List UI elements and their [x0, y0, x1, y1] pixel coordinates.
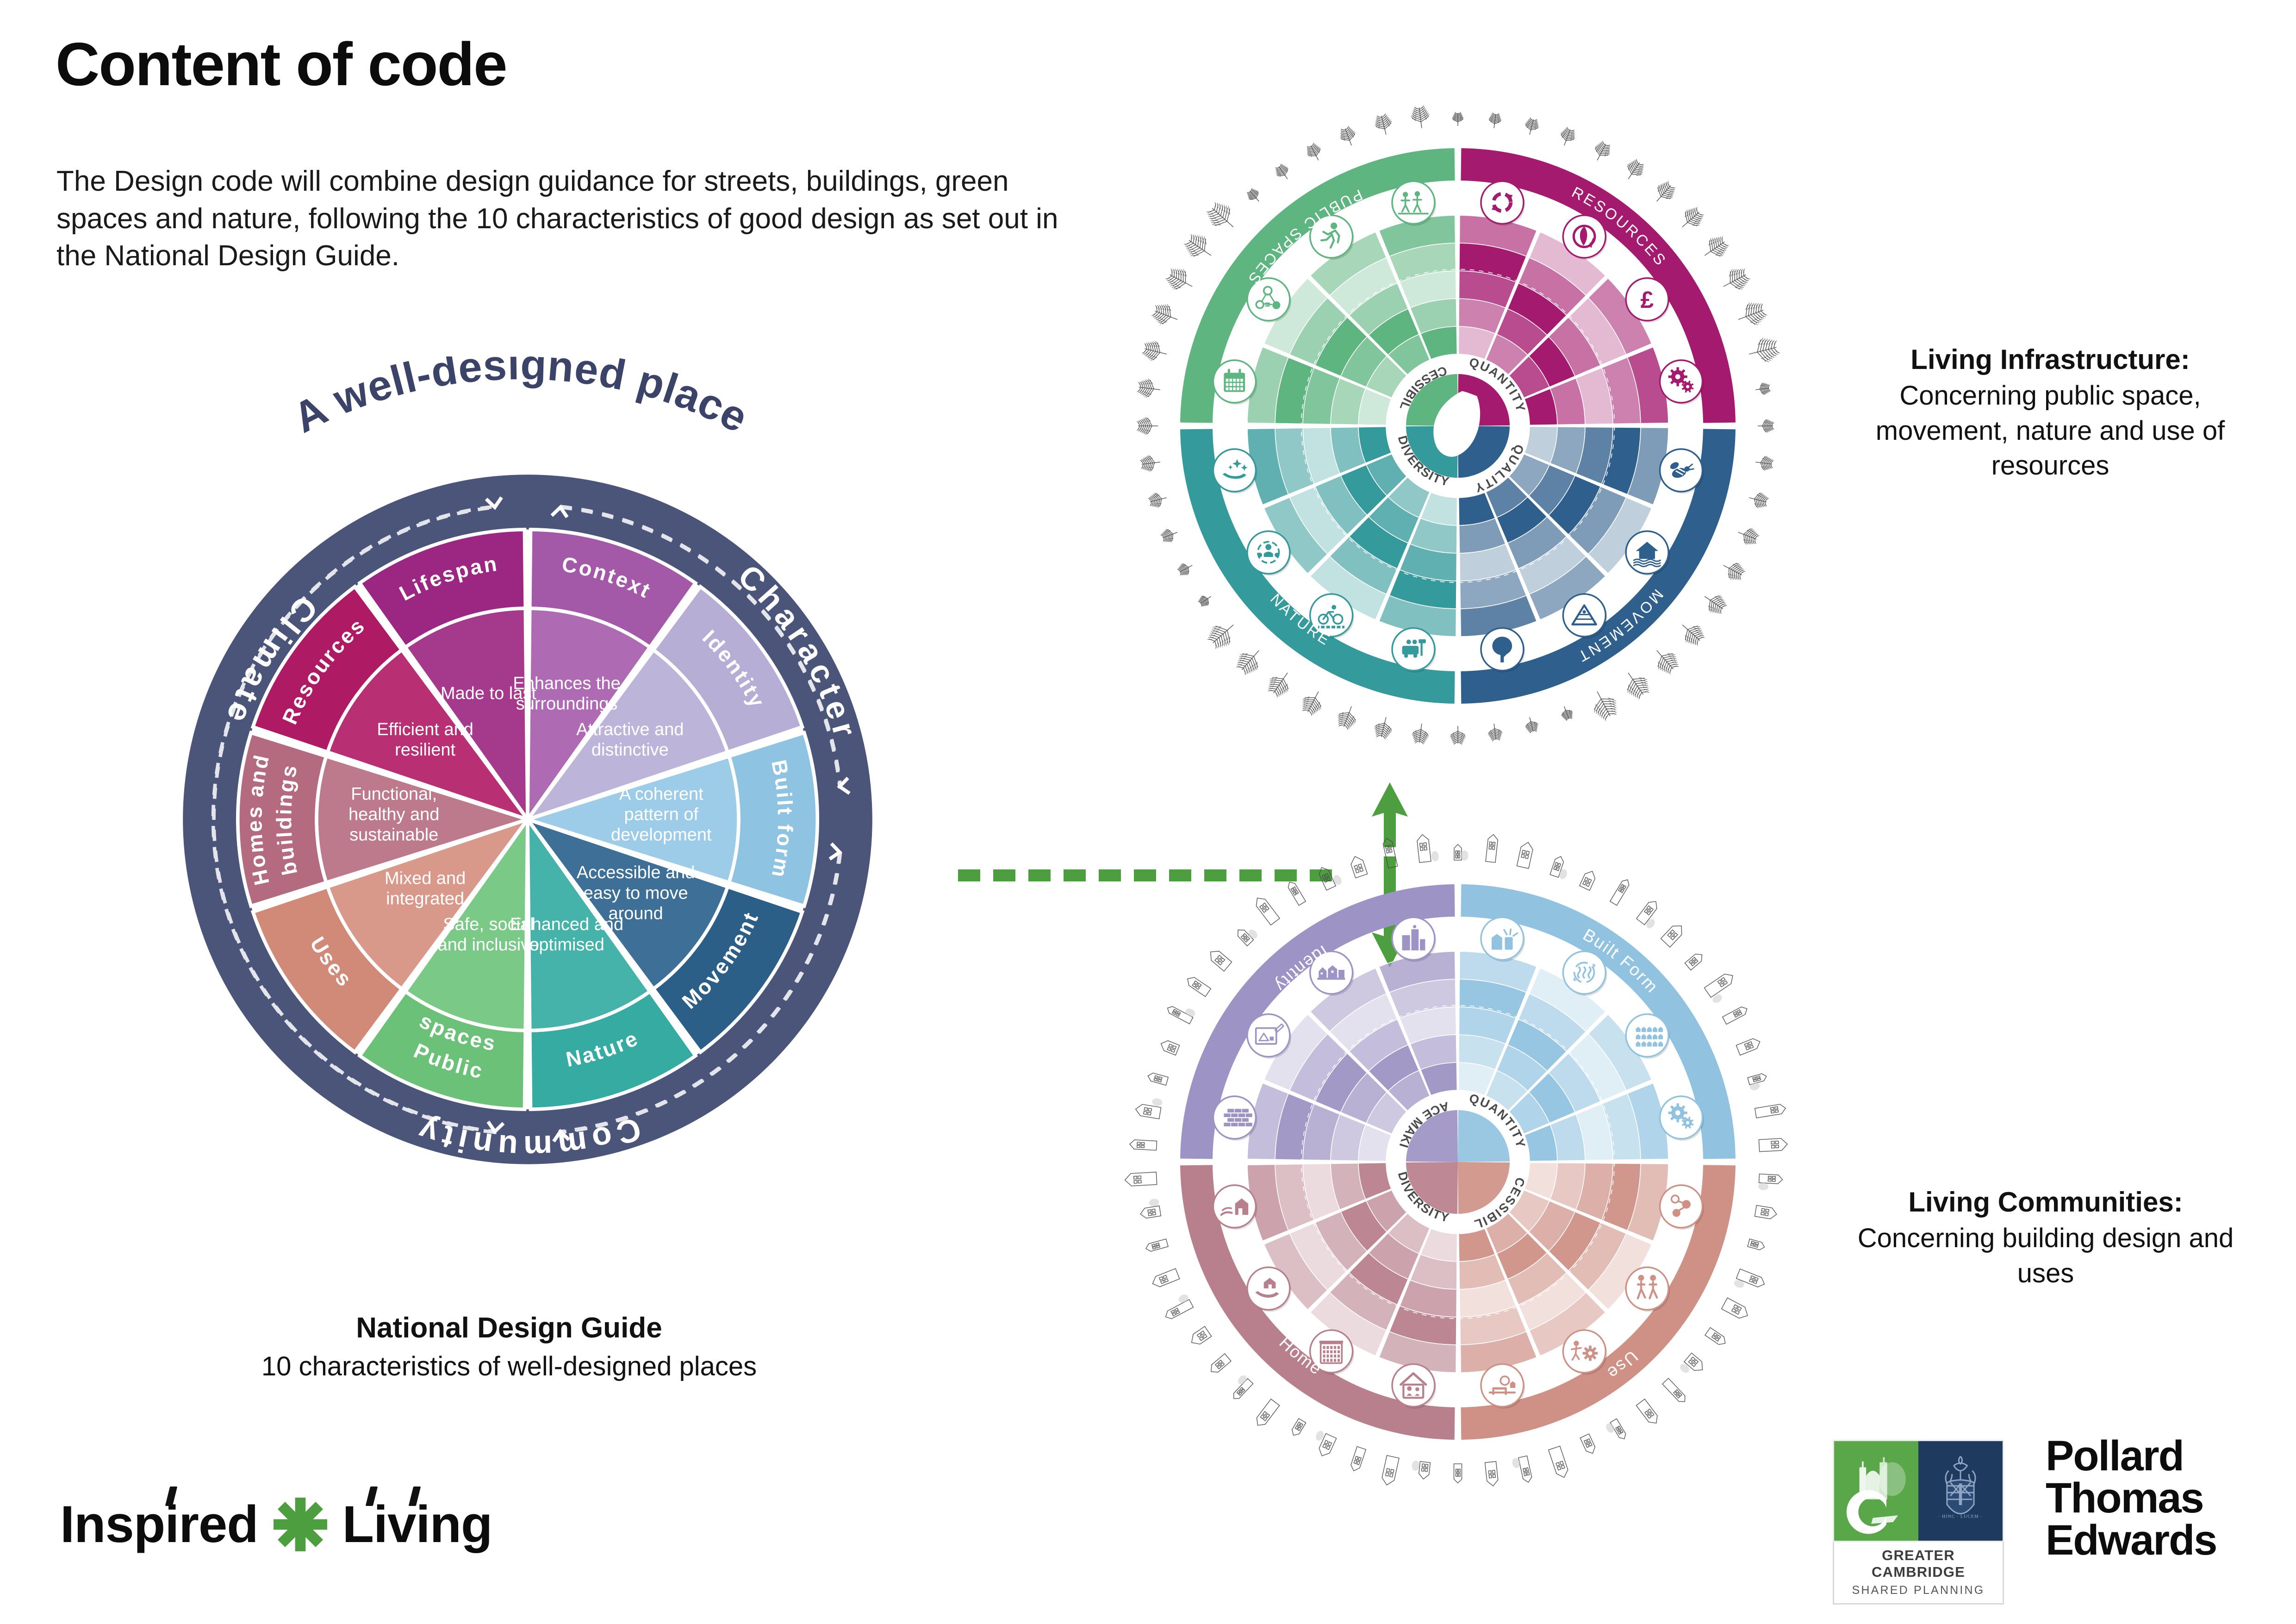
- geology-icon: [1563, 594, 1607, 638]
- pollard-thomas-edwards-logo: Pollard Thomas Edwards: [2046, 1435, 2286, 1562]
- page-title: Content of code: [56, 32, 1120, 97]
- coat-of-arms-icon: · HINC · LUCEM ·: [1918, 1441, 2003, 1541]
- intro-paragraph: The Design code will combine design guid…: [56, 163, 1065, 275]
- living-infrastructure-wheel: ACCESSIBILITYQUANTITYQUALITYDIVERSITY £ …: [1078, 102, 1837, 750]
- pte-line1: Pollard: [2046, 1435, 2286, 1477]
- gc-wordmark: GREATER CAMBRIDGE SHARED PLANNING: [1833, 1542, 2004, 1605]
- pte-line2: Thomas: [2046, 1477, 2286, 1519]
- gc-line2: SHARED PLANNING: [1834, 1584, 2003, 1597]
- living-communities-wheel: PLACE MAKINGQUANTITYACCESSIBILITYDIVERSI…: [1078, 787, 1837, 1537]
- national-design-guide-wheel: A well-designed place CharacterCommunity…: [93, 356, 949, 1319]
- lc-caption-body: Concerning building design and uses: [1842, 1221, 2249, 1291]
- tree-icon: [1481, 628, 1525, 673]
- inspired-word: Inspired: [60, 1499, 258, 1550]
- park-bench-icon: [1481, 1364, 1525, 1409]
- inspired-label: Inspired: [60, 1495, 258, 1553]
- greater-cambridge-logo: · HINC · LUCEM · GREATER CAMBRIDGE SHARE…: [1833, 1440, 2004, 1605]
- svg-text:Made to last: Made to last: [441, 684, 536, 703]
- living-label: Living: [342, 1495, 492, 1553]
- gc-navy-panel: · HINC · LUCEM ·: [1918, 1441, 2003, 1541]
- a-well-designed-place-label: A well-designed place: [286, 356, 756, 442]
- lc-caption-title: Living Communities:: [1842, 1185, 2249, 1219]
- flood-house-icon: [1626, 531, 1670, 575]
- brick-wall-icon: [1213, 1096, 1257, 1141]
- svg-text:Functional,healthy andsustaina: Functional,healthy andsustainable: [348, 784, 440, 844]
- svg-text:A coherentpattern ofdevelopmen: A coherentpattern ofdevelopment: [611, 784, 712, 844]
- walking-people-icon: [1626, 1267, 1670, 1312]
- svg-text:· HINC · LUCEM ·: · HINC · LUCEM ·: [1938, 1514, 1982, 1519]
- blueprint-icon: [1247, 1014, 1291, 1059]
- pte-line3: Edwards: [2046, 1519, 2286, 1562]
- calendar-icon: [1213, 360, 1257, 405]
- bee-icon: [1660, 449, 1704, 493]
- buildings-icon: [1392, 917, 1436, 962]
- ndg-caption-title: National Design Guide: [139, 1310, 879, 1346]
- playground-icon: [1392, 181, 1436, 225]
- gc-emblem: · HINC · LUCEM ·: [1833, 1440, 2004, 1542]
- living-communities-caption: Living Communities: Concerning building …: [1842, 1185, 2249, 1291]
- ndg-wheel-svg: CharacterCommunityClimate ContextEnhance…: [176, 468, 879, 1171]
- play-gear-icon: [1563, 1330, 1607, 1374]
- cambridge-c-icon: [1834, 1441, 1918, 1541]
- svg-text:£: £: [1641, 287, 1654, 313]
- living-infrastructure-caption: Living Infrastructure: Concerning public…: [1847, 343, 2254, 483]
- ndg-caption-subtitle: 10 characteristics of well-designed plac…: [139, 1349, 879, 1384]
- asterisk-icon: [271, 1495, 330, 1554]
- li-caption-title: Living Infrastructure:: [1847, 343, 2254, 376]
- molecule-icon: [1660, 1185, 1704, 1230]
- living-word: Living: [342, 1499, 492, 1550]
- inspired-living-logo: Inspired Living: [60, 1495, 492, 1554]
- gc-green-panel: [1834, 1441, 1918, 1541]
- gc-line1: GREATER CAMBRIDGE: [1834, 1547, 2003, 1580]
- ndg-caption: National Design Guide 10 characteristics…: [139, 1310, 879, 1384]
- li-caption-body: Concerning public space, movement, natur…: [1847, 378, 2254, 483]
